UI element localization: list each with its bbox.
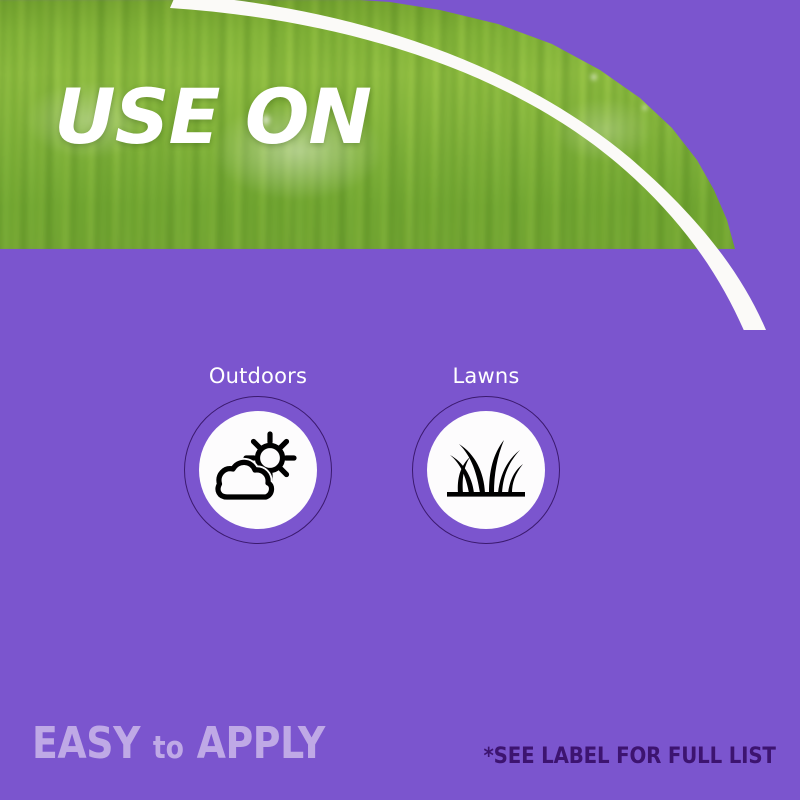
easy-to-apply-text: EASY to APPLY <box>32 722 325 766</box>
badge-lawns-ring <box>412 396 560 544</box>
hero-banner: USE ON <box>0 0 800 330</box>
badge-lawns[interactable]: Lawns <box>410 366 562 544</box>
to-word: to <box>153 730 184 766</box>
page-title: USE ON <box>54 79 371 155</box>
badge-lawns-label: Lawns <box>410 366 562 387</box>
easy-word: EASY <box>32 718 140 769</box>
see-label-disclaimer: *SEE LABEL FOR FULL LIST <box>484 746 776 768</box>
sun-behind-cloud-icon <box>215 431 301 509</box>
badge-outdoors-label: Outdoors <box>182 366 334 387</box>
apply-word: APPLY <box>197 718 325 769</box>
badge-outdoors[interactable]: Outdoors <box>182 366 334 544</box>
badge-outdoors-ring <box>184 396 332 544</box>
use-on-panel: USE ON Outdoors <box>0 0 800 800</box>
use-on-badge-group: Outdoors <box>182 366 582 556</box>
grass-tuft-icon <box>444 433 528 507</box>
